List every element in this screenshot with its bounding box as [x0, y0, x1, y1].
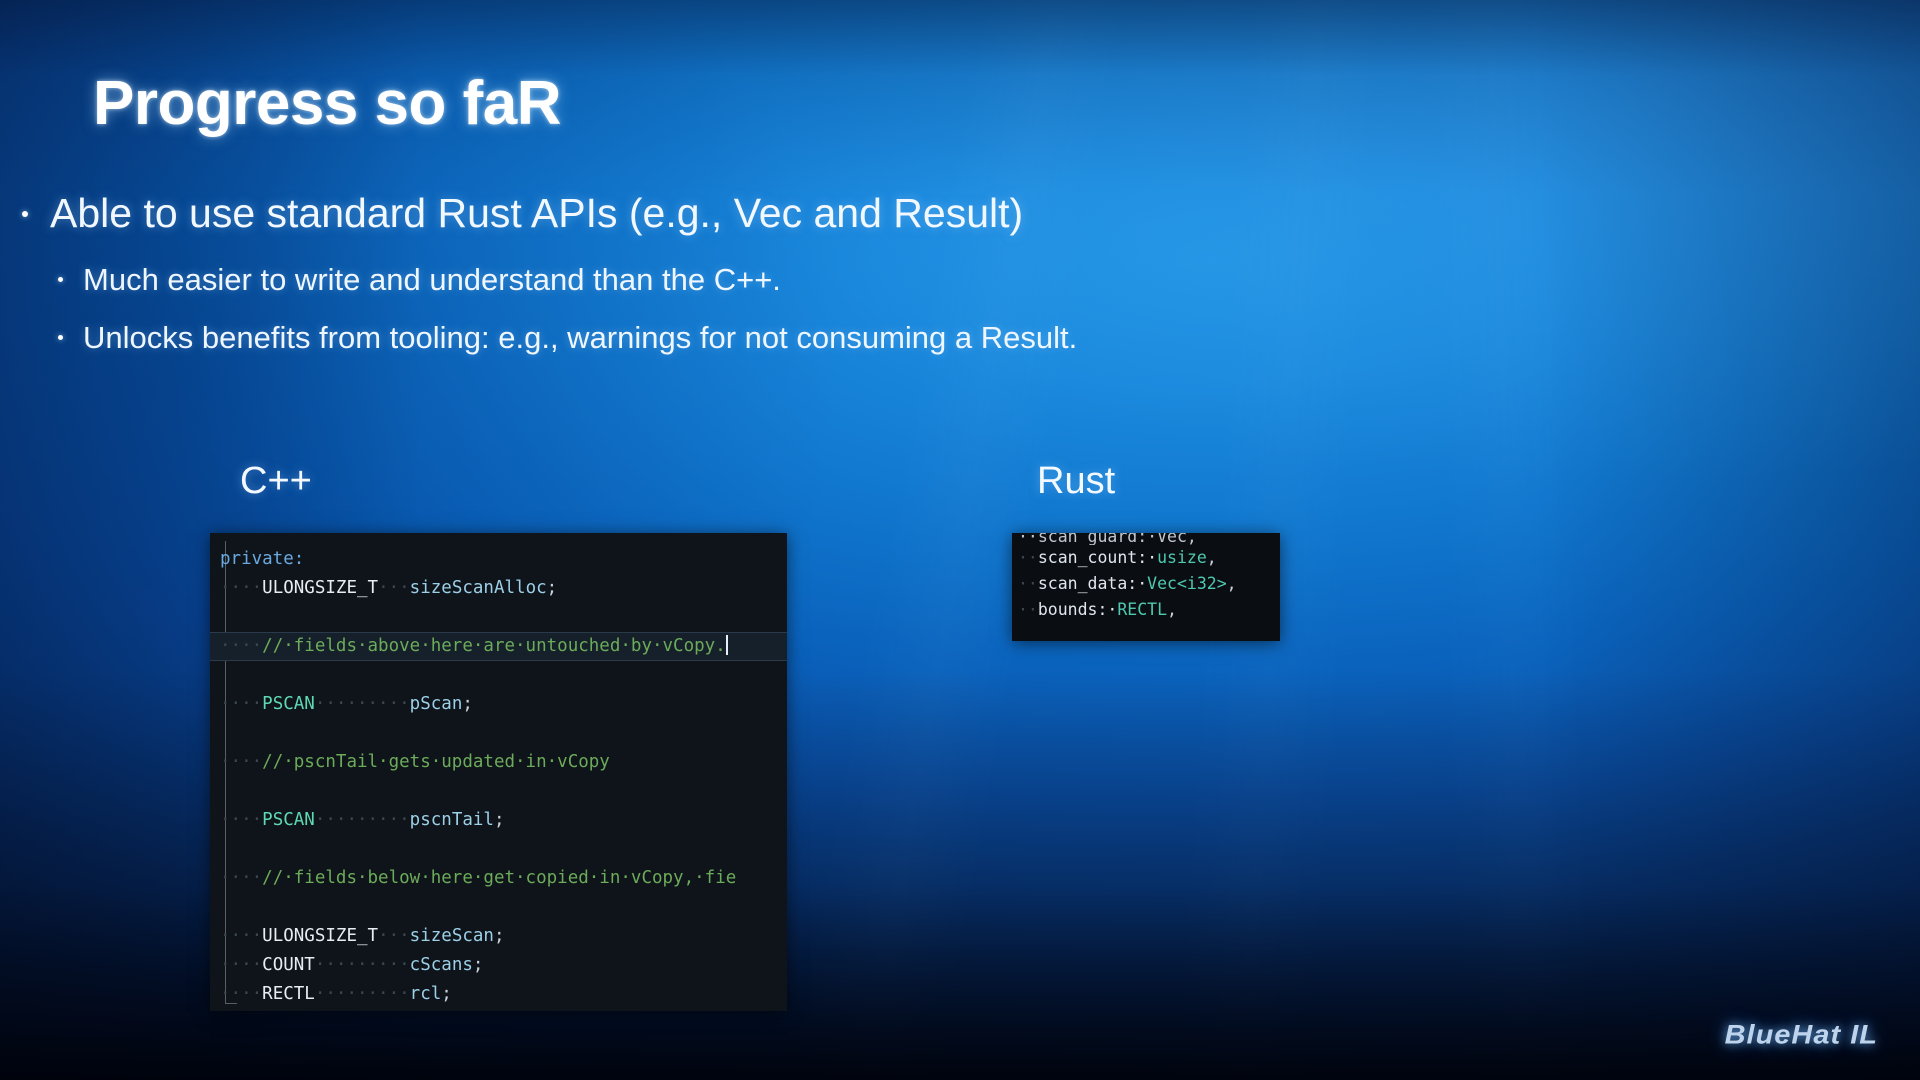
text-cursor-caret: [726, 635, 728, 655]
page-title: Progress so faR: [93, 68, 561, 139]
code-token: ····: [220, 578, 262, 598]
code-line-size-scan-alloc[interactable]: ····ULONGSIZE_T···sizeScanAlloc;: [210, 574, 787, 603]
code-line-clipped-top[interactable]: ··scan_guard:·Vec,: [1012, 533, 1280, 545]
code-token: PSCAN: [262, 810, 315, 830]
code-token: ··: [1018, 548, 1038, 567]
code-token: //·pscnTail·gets·updated·in·vCopy: [262, 752, 610, 772]
code-token: pScan: [410, 694, 463, 714]
bullet-dot-icon: [58, 335, 63, 340]
code-line-scan-count[interactable]: ··scan_count:·usize,: [1012, 545, 1280, 571]
code-line-cscans[interactable]: ····COUNT·········cScans;: [210, 951, 787, 980]
slide-content: Progress so faR Able to use standard Rus…: [0, 0, 1920, 1080]
code-token: COUNT: [262, 955, 315, 975]
code-token: ····: [220, 926, 262, 946]
bluehat-il-logo: BlueHat IL: [1725, 1020, 1878, 1050]
code-token: //·fields·above·here·are·untouched·by·vC…: [262, 636, 726, 656]
code-line-blank-1[interactable]: [210, 603, 787, 632]
code-line-blank-2[interactable]: [210, 661, 787, 690]
code-line-blank-6[interactable]: [210, 893, 787, 922]
presentation-slide: Progress so faR Able to use standard Rus…: [0, 0, 1920, 1080]
code-line-blank-5[interactable]: [210, 835, 787, 864]
code-token: scan_data:·: [1038, 574, 1147, 593]
code-token: ··: [1018, 574, 1038, 593]
code-line-rcl[interactable]: ····RECTL·········rcl;: [210, 980, 787, 1009]
code-token: RECTL: [1117, 600, 1167, 619]
code-token: PSCAN: [262, 694, 315, 714]
cpp-code-lines: private:····ULONGSIZE_T···sizeScanAlloc;…: [210, 533, 787, 1009]
code-token: ULONGSIZE_T: [262, 578, 378, 598]
code-line-comment-above[interactable]: ····//·fields·above·here·are·untouched·b…: [210, 632, 787, 661]
code-token: RECTL: [262, 984, 315, 1004]
code-token: ····: [220, 694, 262, 714]
code-line-size-scan[interactable]: ····ULONGSIZE_T···sizeScan;: [210, 922, 787, 951]
code-token: ··: [1018, 600, 1038, 619]
code-token: ,: [1167, 600, 1177, 619]
rust-panel-label: Rust: [1037, 460, 1115, 503]
code-token: [220, 839, 231, 859]
code-token: ···: [378, 578, 410, 598]
bullet-level1-text: Able to use standard Rust APIs (e.g., Ve…: [50, 190, 1023, 237]
code-token: rcl: [410, 984, 442, 1004]
code-line-scan-data[interactable]: ··scan_data:·Vec<i32>,: [1012, 571, 1280, 597]
bullet-level2-1-text: Much easier to write and understand than…: [83, 262, 781, 298]
code-token: pscnTail: [410, 810, 494, 830]
rust-code-lines: ··scan_guard:·Vec,··scan_count:·usize,··…: [1012, 533, 1280, 623]
code-line-pscan[interactable]: ····PSCAN·········pScan;: [210, 690, 787, 719]
code-line-blank-3[interactable]: [210, 719, 787, 748]
code-token: [220, 781, 231, 801]
code-token: ;: [441, 984, 452, 1004]
bullet-dot-icon: [22, 211, 28, 217]
code-token: ;: [494, 926, 505, 946]
code-token: ····: [220, 868, 262, 888]
code-token: [220, 897, 231, 917]
code-token: ····: [220, 810, 262, 830]
code-token: ;: [473, 955, 484, 975]
cpp-code-panel: private:····ULONGSIZE_T···sizeScanAlloc;…: [210, 533, 787, 1011]
code-line-private[interactable]: private:: [210, 545, 787, 574]
code-token: Vec<i32>: [1147, 574, 1226, 593]
code-token: [220, 665, 231, 685]
code-line-bounds[interactable]: ··bounds:·RECTL,: [1012, 597, 1280, 623]
code-token: usize: [1157, 548, 1207, 567]
bullet-level2-2-text: Unlocks benefits from tooling: e.g., war…: [83, 320, 1077, 356]
code-token: ····: [220, 984, 262, 1004]
cpp-panel-label: C++: [240, 460, 312, 503]
code-line-pscn-tail[interactable]: ····PSCAN·········pscnTail;: [210, 806, 787, 835]
code-token: ·········: [315, 984, 410, 1004]
code-token: ·········: [315, 955, 410, 975]
code-token: ····: [220, 752, 262, 772]
code-token: sizeScanAlloc: [410, 578, 547, 598]
code-token: ULONGSIZE_T: [262, 926, 378, 946]
bullet-level2-2: Unlocks benefits from tooling: e.g., war…: [58, 320, 1077, 356]
code-token: ,: [1207, 548, 1217, 567]
code-token: ;: [462, 694, 473, 714]
code-token: private:: [220, 549, 304, 569]
code-token: ·········: [315, 810, 410, 830]
code-token: ,: [1227, 574, 1237, 593]
code-token: cScans: [410, 955, 473, 975]
code-line-blank-4[interactable]: [210, 777, 787, 806]
code-token: ;: [547, 578, 558, 598]
code-line-comment-below[interactable]: ····//·fields·below·here·get·copied·in·v…: [210, 864, 787, 893]
code-token: //·fields·below·here·get·copied·in·vCopy…: [262, 868, 736, 888]
bullet-level2-1: Much easier to write and understand than…: [58, 262, 781, 298]
code-token: ;: [494, 810, 505, 830]
code-token: ··scan_guard:·Vec,: [1018, 533, 1197, 545]
bullet-dot-icon: [58, 277, 63, 282]
code-token: ···: [378, 926, 410, 946]
code-token: [220, 723, 231, 743]
code-token: scan_count:·: [1038, 548, 1157, 567]
code-token: sizeScan: [410, 926, 494, 946]
code-line-comment-pscn[interactable]: ····//·pscnTail·gets·updated·in·vCopy: [210, 748, 787, 777]
bullet-level1: Able to use standard Rust APIs (e.g., Ve…: [22, 190, 1023, 237]
rust-code-panel: ··scan_guard:·Vec,··scan_count:·usize,··…: [1012, 533, 1280, 641]
code-token: bounds:·: [1038, 600, 1117, 619]
code-token: [220, 607, 231, 627]
code-token: ·········: [315, 694, 410, 714]
code-token: ····: [220, 955, 262, 975]
code-token: ····: [220, 636, 262, 656]
